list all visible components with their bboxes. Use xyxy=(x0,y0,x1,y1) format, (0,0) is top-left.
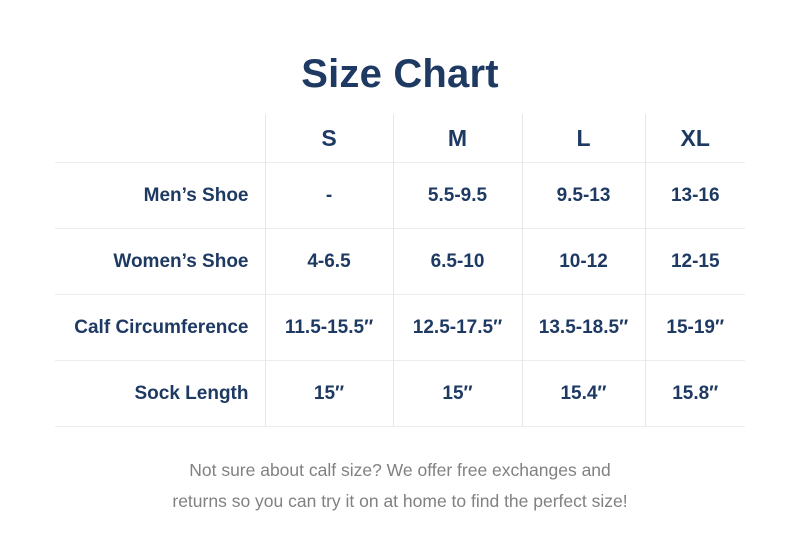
cell-calf-circumference-m: 12.5-17.5″ xyxy=(393,295,522,361)
cell-calf-circumference-s: 11.5-15.5″ xyxy=(265,295,393,361)
cell-mens-shoe-m: 5.5-9.5 xyxy=(393,163,522,229)
row-label-calf-circumference: Calf Circumference xyxy=(55,295,265,361)
column-header-s: S xyxy=(265,114,393,163)
cell-womens-shoe-m: 6.5-10 xyxy=(393,229,522,295)
cell-mens-shoe-s: - xyxy=(265,163,393,229)
cell-mens-shoe-l: 9.5-13 xyxy=(522,163,645,229)
size-chart-page: Size Chart S M L XL Men xyxy=(0,0,800,555)
cell-womens-shoe-s: 4-6.5 xyxy=(265,229,393,295)
footer-note-line-2: returns so you can try it on at home to … xyxy=(100,486,700,517)
cell-sock-length-xl: 15.8″ xyxy=(645,361,745,427)
footer-note-line-1: Not sure about calf size? We offer free … xyxy=(100,455,700,486)
row-label-mens-shoe: Men’s Shoe xyxy=(55,163,265,229)
cell-calf-circumference-xl: 15-19″ xyxy=(645,295,745,361)
cell-sock-length-s: 15″ xyxy=(265,361,393,427)
table-row: Sock Length 15″ 15″ 15.4″ 15.8″ xyxy=(55,361,745,427)
cell-womens-shoe-xl: 12-15 xyxy=(645,229,745,295)
cell-sock-length-m: 15″ xyxy=(393,361,522,427)
cell-sock-length-l: 15.4″ xyxy=(522,361,645,427)
cell-mens-shoe-xl: 13-16 xyxy=(645,163,745,229)
cell-calf-circumference-l: 13.5-18.5″ xyxy=(522,295,645,361)
table-row: Calf Circumference 11.5-15.5″ 12.5-17.5″… xyxy=(55,295,745,361)
footer-note: Not sure about calf size? We offer free … xyxy=(100,427,700,516)
row-label-womens-shoe: Women’s Shoe xyxy=(55,229,265,295)
column-header-xl: XL xyxy=(645,114,745,163)
size-chart-table-wrapper: S M L XL Men’s Shoe - 5.5-9.5 9.5-13 13-… xyxy=(55,96,745,427)
column-header-l: L xyxy=(522,114,645,163)
table-row: Men’s Shoe - 5.5-9.5 9.5-13 13-16 xyxy=(55,163,745,229)
column-header-label xyxy=(55,114,265,163)
page-title: Size Chart xyxy=(0,0,800,96)
table-header-row: S M L XL xyxy=(55,114,745,163)
cell-womens-shoe-l: 10-12 xyxy=(522,229,645,295)
column-header-m: M xyxy=(393,114,522,163)
row-label-sock-length: Sock Length xyxy=(55,361,265,427)
table-row: Women’s Shoe 4-6.5 6.5-10 10-12 12-15 xyxy=(55,229,745,295)
size-chart-table: S M L XL Men’s Shoe - 5.5-9.5 9.5-13 13-… xyxy=(55,114,745,427)
